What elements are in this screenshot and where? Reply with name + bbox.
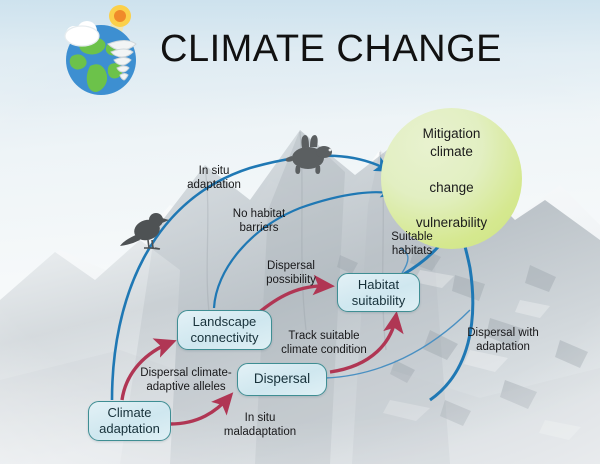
edge-label-line: adaptive alleles bbox=[146, 381, 225, 393]
node-label-line: Landscape bbox=[193, 314, 257, 329]
rabbit-silhouette bbox=[286, 135, 332, 174]
edge-label-line: barriers bbox=[240, 222, 279, 234]
node-label-line: Mitigation climate bbox=[393, 125, 510, 161]
edge-label-dispersal-climate-adaptive-alleles: Dispersal climate- adaptive alleles bbox=[131, 366, 241, 394]
climate-change-figure: CLIMATE CHANGE bbox=[0, 0, 600, 464]
edge-label-in-situ-adaptation: In situ adaptation bbox=[168, 164, 260, 192]
edge-label-line: Dispersal bbox=[267, 260, 315, 272]
edge-label-in-situ-maladaptation: In situ maladaptation bbox=[214, 411, 306, 439]
edge-label-dispersal-with-adaptation: Dispersal with adaptation bbox=[455, 326, 551, 354]
node-label-line: change bbox=[393, 179, 510, 197]
node-label-line: Habitat bbox=[358, 277, 399, 292]
node-label-line: connectivity bbox=[191, 330, 259, 345]
edge-label-line: Dispersal with bbox=[467, 327, 539, 339]
edge-label-line: adaptation bbox=[476, 341, 530, 353]
edge-label-suitable-habitats: Suitable habitats bbox=[374, 230, 450, 258]
edge-label-no-habitat-barriers: No habitat barriers bbox=[219, 207, 299, 235]
node-label-line: Climate bbox=[107, 405, 151, 420]
edge-label-line: No habitat bbox=[233, 208, 285, 220]
edge-label-track-suitable-climate-condition: Track suitable climate condition bbox=[269, 329, 379, 357]
edge-label-line: maladaptation bbox=[224, 426, 296, 438]
edge-label-line: Track suitable bbox=[288, 330, 359, 342]
edge-label-dispersal-possibility: Dispersal possibility bbox=[255, 259, 327, 287]
edge-label-line: climate condition bbox=[281, 344, 367, 356]
edge-label-line: possibility bbox=[266, 274, 316, 286]
edge-label-line: Suitable bbox=[391, 231, 433, 243]
node-dispersal[interactable]: Dispersal bbox=[237, 363, 327, 396]
edge-label-line: In situ bbox=[199, 165, 230, 177]
node-label-line: suitability bbox=[352, 293, 405, 308]
node-mitigation-vulnerability[interactable]: Mitigation climate change vulnerability bbox=[381, 108, 522, 249]
node-landscape-connectivity[interactable]: Landscape connectivity bbox=[177, 310, 272, 350]
edge-label-line: Dispersal climate- bbox=[140, 367, 231, 379]
node-habitat-suitability[interactable]: Habitat suitability bbox=[337, 273, 420, 312]
node-label-line: Dispersal bbox=[254, 371, 310, 387]
edge-label-line: In situ bbox=[245, 412, 276, 424]
edge-label-line: habitats bbox=[392, 245, 432, 257]
edge-label-line: adaptation bbox=[187, 179, 241, 191]
node-label-line: adaptation bbox=[99, 421, 160, 436]
node-climate-adaptation[interactable]: Climate adaptation bbox=[88, 401, 171, 441]
